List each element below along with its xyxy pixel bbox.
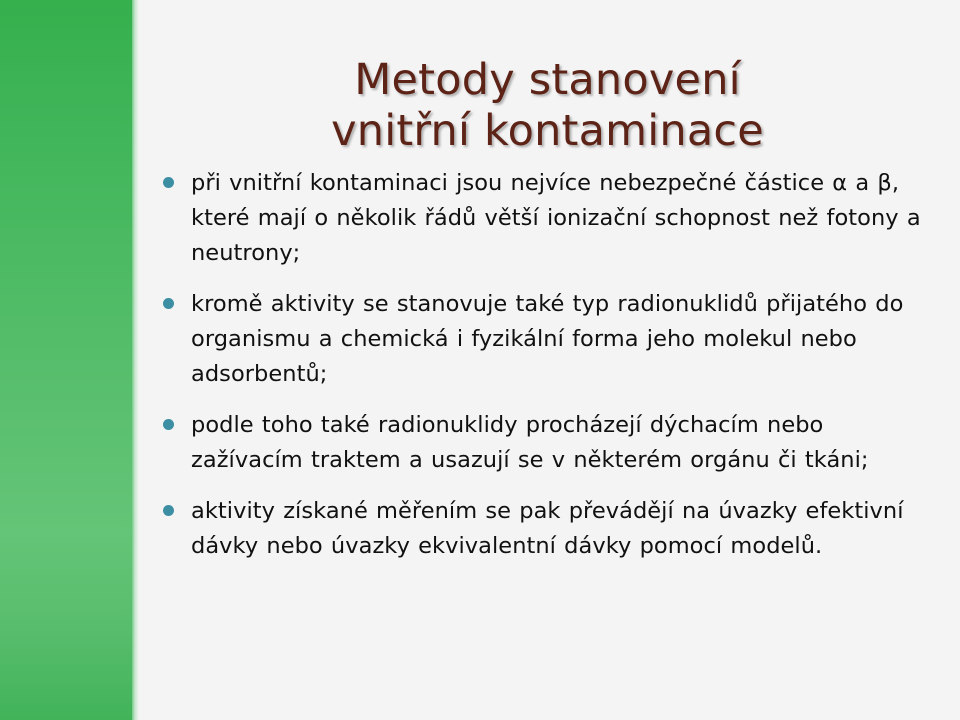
green-accent-band <box>0 0 132 720</box>
bullet-dot-icon <box>163 166 191 188</box>
bullet-dot-icon <box>163 287 191 309</box>
bullet-list: při vnitřní kontaminaci jsou nejvíce neb… <box>163 166 938 580</box>
list-item-text: podle toho také radionuklidy procházejí … <box>191 408 938 478</box>
list-item: kromě aktivity se stanovuje také typ rad… <box>163 287 938 392</box>
green-accent-band-fade-edge <box>132 0 139 720</box>
slide-title: Metody stanovení vnitřní kontaminace <box>150 55 945 157</box>
list-item: podle toho také radionuklidy procházejí … <box>163 408 938 478</box>
list-item-text: při vnitřní kontaminaci jsou nejvíce neb… <box>191 166 938 271</box>
bullet-dot-icon <box>163 494 191 516</box>
list-item: aktivity získané měřením se pak převáděj… <box>163 494 938 564</box>
list-item-text: kromě aktivity se stanovuje také typ rad… <box>191 287 938 392</box>
presentation-slide: Metody stanovení vnitřní kontaminace při… <box>0 0 960 720</box>
list-item: při vnitřní kontaminaci jsou nejvíce neb… <box>163 166 938 271</box>
bullet-dot-icon <box>163 408 191 430</box>
list-item-text: aktivity získané měřením se pak převáděj… <box>191 494 938 564</box>
